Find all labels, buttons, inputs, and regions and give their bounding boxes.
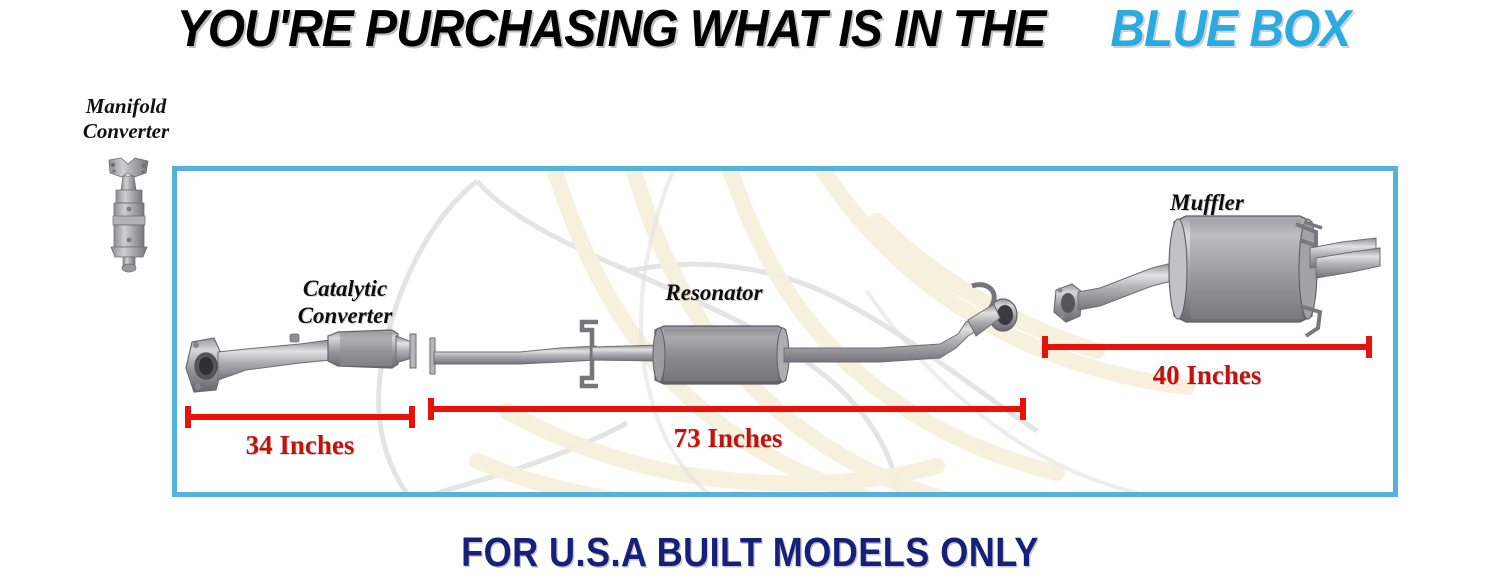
dimension-cap-right bbox=[1366, 336, 1372, 358]
dimension-cap-right bbox=[1020, 398, 1026, 420]
dimension-bar bbox=[428, 406, 1026, 412]
catalytic-label-line1: Catalytic bbox=[303, 276, 387, 301]
manifold-label-line2: Converter bbox=[83, 119, 169, 143]
muffler-label: Muffler bbox=[1107, 189, 1307, 216]
dimension-bar bbox=[185, 414, 415, 420]
manifold-label-line1: Manifold bbox=[86, 94, 167, 118]
header-accent-text: BLUE BOX bbox=[1110, 3, 1350, 55]
header-main-text: YOU'RE PURCHASING WHAT IS IN THE bbox=[177, 3, 1046, 55]
manifold-converter-part-image bbox=[101, 156, 156, 276]
dimension-label-catalytic: 34 Inches bbox=[150, 430, 450, 461]
catalytic-converter-label: Catalytic Converter bbox=[240, 275, 450, 329]
dimension-line-resonator bbox=[428, 398, 1026, 420]
dimension-line-muffler bbox=[1042, 336, 1372, 358]
dimension-label-resonator: 73 Inches bbox=[578, 423, 878, 454]
dimension-bar bbox=[1042, 344, 1372, 350]
footer-note: FOR U.S.A BUILT MODELS ONLY bbox=[90, 524, 1410, 580]
dimension-cap-right bbox=[409, 406, 415, 428]
resonator-label: Resonator bbox=[604, 279, 824, 306]
catalytic-label-line2: Converter bbox=[298, 303, 393, 328]
dimension-label-muffler: 40 Inches bbox=[1057, 360, 1357, 391]
manifold-converter-label: Manifold Converter bbox=[46, 94, 206, 144]
header-banner: YOU'RE PURCHASING WHAT IS IN THE BLUE BO… bbox=[0, 0, 1500, 58]
dimension-line-catalytic bbox=[185, 406, 415, 428]
